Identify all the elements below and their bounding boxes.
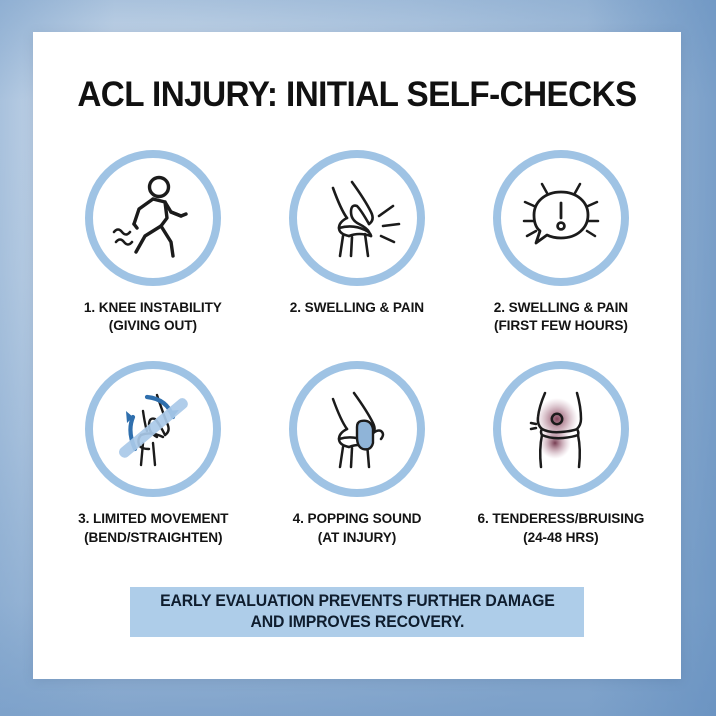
symptom-grid: 1. KNEE INSTABILITY (GIVING OUT) (55, 150, 659, 547)
symptom-row-1: 1. KNEE INSTABILITY (GIVING OUT) (55, 150, 659, 335)
symptom-label-line1: 6. TENDERESS/BRUISING (478, 511, 645, 527)
symptom-item-limited-movement[interactable]: 3. LIMITED MOVEMENT (BEND/STRAIGHTEN) (55, 361, 251, 546)
symptom-caption: 6. TENDERESS/BRUISING (24-48 HRS) (478, 510, 645, 546)
symptom-label-line2: (GIVING OUT) (84, 317, 222, 335)
footer-line1: EARLY EVALUATION PREVENTS FURTHER DAMAGE (160, 592, 555, 610)
page-title: ACL INJURY: INITIAL SELF-CHECKS (49, 75, 665, 115)
icon-ring (289, 361, 425, 497)
symptom-label-line2: (24-48 HRS) (478, 529, 645, 547)
infographic-poster: ACL INJURY: INITIAL SELF-CHECKS (0, 0, 716, 716)
symptom-item-popping-sound[interactable]: 4. POPPING SOUND (AT INJURY) (259, 361, 455, 546)
symptom-caption: 4. POPPING SOUND (AT INJURY) (293, 510, 422, 546)
knee-pain-rays-icon (305, 166, 409, 270)
knee-restricted-rotation-icon (101, 377, 205, 481)
alert-bubble-icon (509, 166, 613, 270)
symptom-item-knee-instability[interactable]: 1. KNEE INSTABILITY (GIVING OUT) (55, 150, 251, 335)
symptom-label-line1: 3. LIMITED MOVEMENT (78, 511, 228, 527)
icon-ring (493, 361, 629, 497)
icon-ring (85, 150, 221, 286)
symptom-caption: 1. KNEE INSTABILITY (GIVING OUT) (84, 299, 222, 335)
symptom-label-line2: (FIRST FEW HOURS) (494, 317, 628, 335)
symptom-label-line1: 2. SWELLING & PAIN (494, 300, 628, 316)
poster-card: ACL INJURY: INITIAL SELF-CHECKS (33, 32, 681, 679)
icon-ring (493, 150, 629, 286)
symptom-label-line2: (AT INJURY) (293, 529, 422, 547)
symptom-caption: 3. LIMITED MOVEMENT (BEND/STRAIGHTEN) (78, 510, 228, 546)
icon-ring (85, 361, 221, 497)
symptom-label-line1: 4. POPPING SOUND (293, 511, 422, 527)
walking-instability-icon (101, 166, 205, 270)
footer-text: EARLY EVALUATION PREVENTS FURTHER DAMAGE… (160, 591, 555, 633)
knee-ligament-pop-icon (305, 377, 409, 481)
symptom-row-2: 3. LIMITED MOVEMENT (BEND/STRAIGHTEN) (55, 361, 659, 546)
icon-ring (289, 150, 425, 286)
symptom-label-line1: 1. KNEE INSTABILITY (84, 300, 222, 316)
symptom-caption: 2. SWELLING & PAIN (FIRST FEW HOURS) (494, 299, 628, 335)
footer-banner: EARLY EVALUATION PREVENTS FURTHER DAMAGE… (130, 587, 584, 637)
symptom-caption: 2. SWELLING & PAIN (290, 299, 424, 317)
symptom-label-line1: 2. SWELLING & PAIN (290, 300, 424, 316)
symptom-item-tenderness-bruising[interactable]: 6. TENDERESS/BRUISING (24-48 HRS) (463, 361, 659, 546)
knee-bruising-icon (509, 377, 613, 481)
symptom-item-swelling-pain[interactable]: 2. SWELLING & PAIN (259, 150, 455, 317)
footer-line2: AND IMPROVES RECOVERY. (160, 612, 555, 633)
symptom-label-line2: (BEND/STRAIGHTEN) (78, 529, 228, 547)
symptom-item-swelling-pain-hours[interactable]: 2. SWELLING & PAIN (FIRST FEW HOURS) (463, 150, 659, 335)
